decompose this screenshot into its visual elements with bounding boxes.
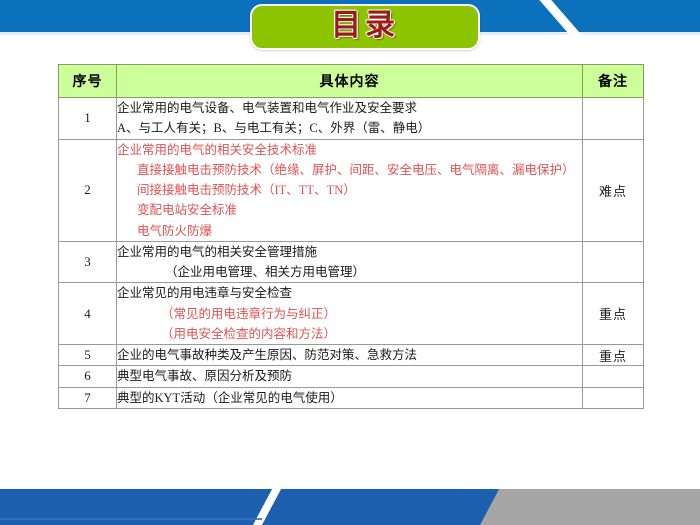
row-note xyxy=(583,366,644,387)
row-content: 典型电气事故、原因分析及预防 xyxy=(117,366,583,387)
row-note: 重点 xyxy=(583,283,644,345)
table-header-row: 序号 具体内容 备注 xyxy=(59,65,644,98)
table-row: 4企业常见的用电违章与安全检查（常见的用电违章行为与纠正）（用电安全检查的内容和… xyxy=(59,283,644,345)
column-header-no: 序号 xyxy=(59,65,117,98)
row-note xyxy=(583,98,644,140)
content-line: （用电安全检查的内容和方法） xyxy=(117,324,582,344)
row-number: 3 xyxy=(59,241,117,283)
row-content: 企业常用的电气的相关安全技术标准直接接触电击预防技术（绝缘、屏护、间距、安全电压… xyxy=(117,139,583,241)
bottom-decoration xyxy=(0,489,700,525)
row-content: 企业常用的电气的相关安全管理措施（企业用电管理、相关方用电管理） xyxy=(117,241,583,283)
content-line: 企业常用的电气设备、电气装置和电气作业及安全要求 xyxy=(117,98,582,118)
column-header-content: 具体内容 xyxy=(117,65,583,98)
content-line: 直接接触电击预防技术（绝缘、屏护、间距、安全电压、电气隔离、漏电保护） xyxy=(117,160,582,180)
content-line: 企业的电气事故种类及产生原因、防范对策、急救方法 xyxy=(117,345,582,365)
row-note: 重点 xyxy=(583,345,644,366)
page-title: 目录 xyxy=(331,11,399,43)
content-line: 典型电气事故、原因分析及预防 xyxy=(117,366,582,386)
table-row: 5企业的电气事故种类及产生原因、防范对策、急救方法重点 xyxy=(59,345,644,366)
row-content: 企业常用的电气设备、电气装置和电气作业及安全要求A、与工人有关；B、与电工有关；… xyxy=(117,98,583,140)
row-note xyxy=(583,241,644,283)
row-content: 典型的KYT活动（企业常见的电气使用） xyxy=(117,387,583,408)
row-number: 2 xyxy=(59,139,117,241)
row-content: 企业常见的用电违章与安全检查（常见的用电违章行为与纠正）（用电安全检查的内容和方… xyxy=(117,283,583,345)
content-line: 典型的KYT活动（企业常见的电气使用） xyxy=(117,388,582,408)
row-number: 5 xyxy=(59,345,117,366)
row-number: 6 xyxy=(59,366,117,387)
table-row: 6典型电气事故、原因分析及预防 xyxy=(59,366,644,387)
row-note: 难点 xyxy=(583,139,644,241)
content-line: A、与工人有关；B、与电工有关；C、外界（雷、静电） xyxy=(117,118,582,138)
table-row: 7典型的KYT活动（企业常见的电气使用） xyxy=(59,387,644,408)
table-of-contents: 序号 具体内容 备注 1企业常用的电气设备、电气装置和电气作业及安全要求A、与工… xyxy=(58,64,644,409)
content-line: 电气防火防爆 xyxy=(117,221,582,241)
row-number: 4 xyxy=(59,283,117,345)
slide-title-pill: 目录 xyxy=(250,4,480,50)
content-line: 企业常用的电气的相关安全技术标准 xyxy=(117,140,582,160)
top-right-diagonal-decoration xyxy=(520,0,700,36)
row-number: 1 xyxy=(59,98,117,140)
table-row: 2企业常用的电气的相关安全技术标准直接接触电击预防技术（绝缘、屏护、间距、安全电… xyxy=(59,139,644,241)
content-line: （企业用电管理、相关方用电管理） xyxy=(117,262,582,282)
column-header-note: 备注 xyxy=(583,65,644,98)
content-line: 企业常见的用电违章与安全检查 xyxy=(117,283,582,303)
table-row: 3企业常用的电气的相关安全管理措施（企业用电管理、相关方用电管理） xyxy=(59,241,644,283)
row-note xyxy=(583,387,644,408)
content-line: 间接接触电击预防技术（IT、TT、TN） xyxy=(117,180,582,200)
bottom-accent-line xyxy=(0,518,262,520)
slide-canvas: 目录 序号 具体内容 备注 1企业常用的电气设备、电气装置和电气作业及安全要求A… xyxy=(0,0,700,525)
row-content: 企业的电气事故种类及产生原因、防范对策、急救方法 xyxy=(117,345,583,366)
diagonal-stripe-icon xyxy=(531,0,610,36)
row-number: 7 xyxy=(59,387,117,408)
table-row: 1企业常用的电气设备、电气装置和电气作业及安全要求A、与工人有关；B、与电工有关… xyxy=(59,98,644,140)
content-line: （常见的用电违章行为与纠正） xyxy=(117,304,582,324)
content-line: 变配电站安全标准 xyxy=(117,200,582,220)
table-body: 1企业常用的电气设备、电气装置和电气作业及安全要求A、与工人有关；B、与电工有关… xyxy=(59,98,644,409)
content-line: 企业常用的电气的相关安全管理措施 xyxy=(117,242,582,262)
